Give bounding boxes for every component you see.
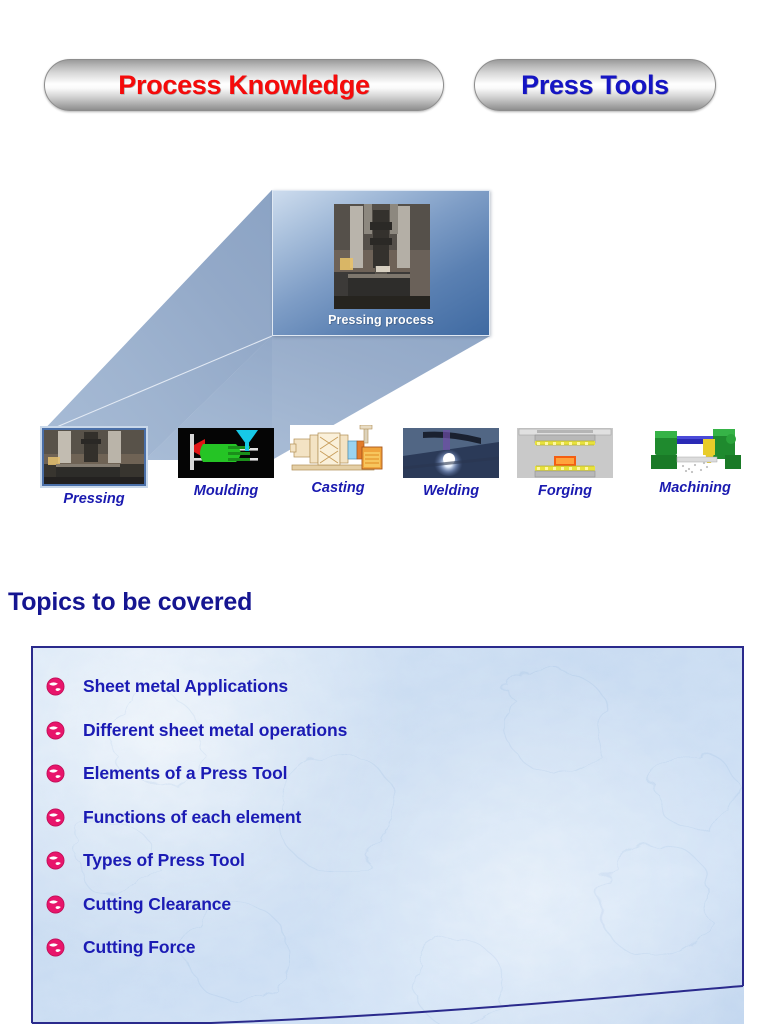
list-item-label: Cutting Clearance <box>83 894 231 915</box>
title-button-bar: Process Knowledge Press Tools <box>0 59 768 114</box>
list-item[interactable]: Sheet metal Applications <box>31 665 744 709</box>
globe-bullet-icon <box>46 677 65 696</box>
injection-moulding-icon <box>178 428 274 478</box>
process-knowledge-button[interactable]: Process Knowledge <box>44 59 444 111</box>
process-thumb-machining[interactable]: Machining <box>639 425 751 496</box>
list-item[interactable]: Different sheet metal operations <box>31 709 744 753</box>
globe-bullet-icon <box>46 764 65 783</box>
process-thumb-label-casting: Casting <box>282 480 394 496</box>
process-thumb-label-forging: Forging <box>509 483 621 499</box>
topics-list: Sheet metal Applications Different sheet… <box>31 646 744 970</box>
list-item[interactable]: Types of Press Tool <box>31 839 744 883</box>
list-item-label: Different sheet metal operations <box>83 720 347 741</box>
enlarged-panel-caption: Pressing process <box>273 313 489 327</box>
page-title: Topics to be covered <box>8 588 252 617</box>
process-thumb-casting[interactable]: Casting <box>282 425 394 496</box>
globe-bullet-icon <box>46 895 65 914</box>
press-machine-photo-icon <box>42 428 146 486</box>
list-item[interactable]: Cutting Force <box>31 926 744 970</box>
list-item-label: Functions of each element <box>83 807 301 828</box>
list-item-label: Types of Press Tool <box>83 850 245 871</box>
process-thumb-forging[interactable]: Forging <box>509 428 621 499</box>
list-item[interactable]: Functions of each element <box>31 796 744 840</box>
list-item-label: Sheet metal Applications <box>83 676 288 697</box>
list-item[interactable]: Cutting Clearance <box>31 883 744 927</box>
globe-bullet-icon <box>46 851 65 870</box>
list-item-label: Cutting Force <box>83 937 195 958</box>
press-tools-button[interactable]: Press Tools <box>474 59 716 111</box>
press-tools-label: Press Tools <box>521 70 669 101</box>
process-thumb-label-machining: Machining <box>639 480 751 496</box>
press-machine-photo-icon <box>334 204 430 309</box>
process-thumb-pressing[interactable]: Pressing <box>38 428 150 507</box>
process-thumb-label-pressing: Pressing <box>38 491 150 507</box>
list-item[interactable]: Elements of a Press Tool <box>31 752 744 796</box>
globe-bullet-icon <box>46 721 65 740</box>
topics-panel: Sheet metal Applications Different sheet… <box>31 646 744 1024</box>
forging-die-icon <box>517 428 613 478</box>
process-knowledge-label: Process Knowledge <box>118 70 369 101</box>
process-thumb-label-moulding: Moulding <box>170 483 282 499</box>
welding-arc-photo-icon <box>403 428 499 478</box>
enlarged-process-panel[interactable]: Pressing process <box>272 190 490 336</box>
globe-bullet-icon <box>46 808 65 827</box>
list-item-label: Elements of a Press Tool <box>83 763 287 784</box>
process-thumbnail-strip: Pressing Moulding <box>0 425 768 500</box>
process-thumb-label-welding: Welding <box>395 483 507 499</box>
process-thumb-moulding[interactable]: Moulding <box>170 428 282 499</box>
process-thumb-welding[interactable]: Welding <box>395 428 507 499</box>
globe-bullet-icon <box>46 938 65 957</box>
casting-machine-icon <box>290 425 386 475</box>
lathe-machine-icon <box>647 425 743 475</box>
